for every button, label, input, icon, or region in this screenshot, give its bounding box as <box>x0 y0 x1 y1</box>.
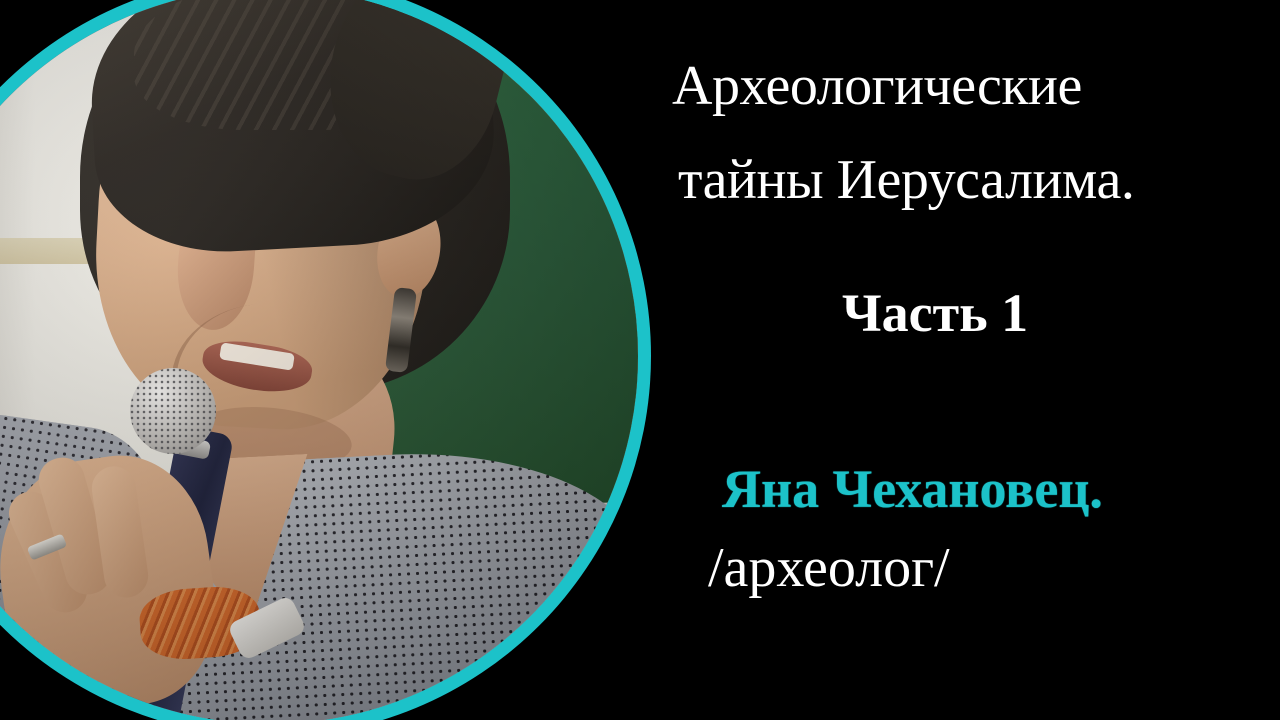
text-column: Археологические тайны Иерусалима. Часть … <box>650 0 1280 720</box>
title-line-1: Археологические <box>672 58 1082 114</box>
part-label: Часть 1 <box>842 286 1028 340</box>
speaker-name: Яна Чехановец. <box>722 462 1103 516</box>
photo-figure <box>0 0 638 720</box>
speaker-photo-medallion <box>0 0 638 720</box>
title-line-2: тайны Иерусалима. <box>678 152 1134 208</box>
speaker-role: /археолог/ <box>708 540 950 596</box>
video-thumbnail: Археологические тайны Иерусалима. Часть … <box>0 0 1280 720</box>
speaker-photo <box>0 0 638 720</box>
microphone-head <box>130 368 216 454</box>
